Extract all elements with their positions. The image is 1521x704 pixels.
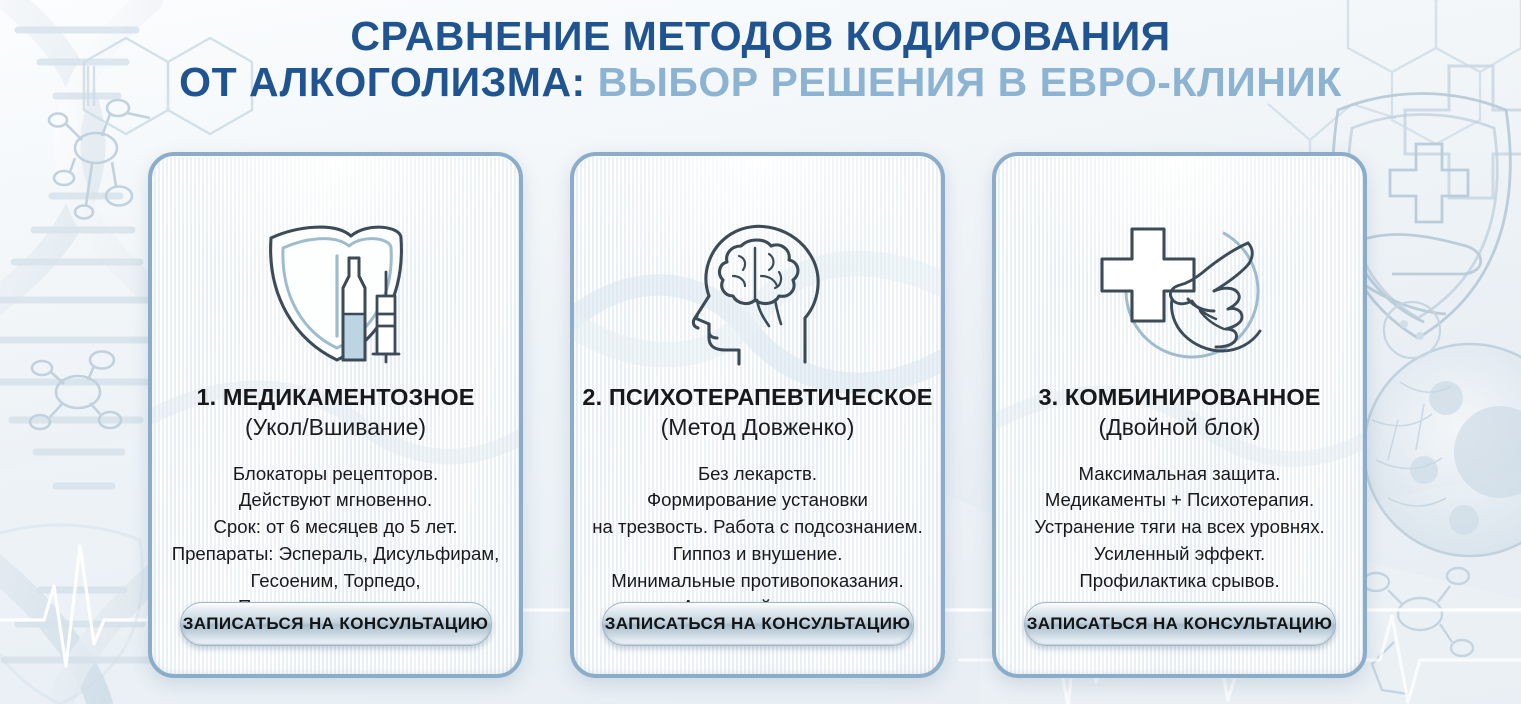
card-body-line: Профилактика срывов. [1004,568,1355,595]
card-body-line: Усиленный эффект. [1004,541,1355,568]
title-line-1: СРАВНЕНИЕ МЕТОДОВ КОДИРОВАНИЯ [0,14,1521,60]
card-body-line: Устранение тяги на всех уровнях. [1004,514,1355,541]
shield-ampoule-syringe-icon [251,214,421,366]
card-body-line: Гиппоз и внушение. [582,541,933,568]
title-line-2-dark: ОТ АЛКОГОЛИЗМА: [179,59,586,105]
consultation-button[interactable]: ЗАПИСАТЬСЯ НА КОНСУЛЬТАЦИЮ [602,602,914,646]
title-line-2-light: ВЫБОР РЕШЕНИЯ В ЕВРО-КЛИНИК [598,59,1342,105]
card-heading: 3. КОМБИНИРОВАННОЕ [1004,384,1355,412]
card-icon-container [152,204,519,376]
card-body-line: Препараты: Эспераль, Дисульфирам, [160,541,511,568]
method-card-psychotherapy[interactable]: 2. ПСИХОТЕРАПЕВТИЧЕСКОЕ (Метод Довженко)… [570,152,945,678]
cross-helping-hands-icon [1096,215,1264,365]
title-line-2: ОТ АЛКОГОЛИЗМА: ВЫБОР РЕШЕНИЯ В ЕВРО-КЛИ… [0,60,1521,106]
card-heading: 1. МЕДИКАМЕНТОЗНОЕ [160,384,511,412]
card-body-line: Максимальная защита. [1004,461,1355,488]
card-subheading: (Метод Довженко) [582,413,933,443]
card-text-block: 3. КОМБИНИРОВАННОЕ (Двойной блок) Максим… [996,384,1363,594]
card-body-line: Без лекарств. [582,461,933,488]
molecule-structure-icon [1354,568,1473,694]
card-body-line: Срок: от 6 месяцев до 5 лет. [160,514,511,541]
card-body: Максимальная защита. Медикаменты + Психо… [1004,461,1355,595]
card-heading: 2. ПСИХОТЕРАПЕВТИЧЕСКОЕ [582,384,933,412]
molecule-structure-icon [49,100,150,219]
card-subheading: (Двойной блок) [1004,413,1355,443]
cell-sphere-icon [1364,302,1521,556]
consultation-button-label: ЗАПИСАТЬСЯ НА КОНСУЛЬТАЦИЮ [1027,614,1333,634]
shield-outline-icon [0,525,142,704]
card-icon-container [996,204,1363,376]
card-body: Блокаторы рецепторов. Действуют мгновенн… [160,461,511,622]
card-text-block: 2. ПСИХОТЕРАПЕВТИЧЕСКОЕ (Метод Довженко)… [574,384,941,621]
card-body-line: Действуют мгновенно. [160,487,511,514]
consultation-button[interactable]: ЗАПИСАТЬСЯ НА КОНСУЛЬТАЦИЮ [180,602,492,646]
banner-title: СРАВНЕНИЕ МЕТОДОВ КОДИРОВАНИЯ ОТ АЛКОГОЛ… [0,14,1521,106]
molecule-structure-icon [30,352,121,430]
consultation-button[interactable]: ЗАПИСАТЬСЯ НА КОНСУЛЬТАЦИЮ [1024,602,1336,646]
card-text-block: 1. МЕДИКАМЕНТОЗНОЕ (Укол/Вшивание) Блока… [152,384,519,621]
infographic-banner: СРАВНЕНИЕ МЕТОДОВ КОДИРОВАНИЯ ОТ АЛКОГОЛ… [0,0,1521,704]
method-card-medication[interactable]: 1. МЕДИКАМЕНТОЗНОЕ (Укол/Вшивание) Блока… [148,152,523,678]
method-card-combined[interactable]: 3. КОМБИНИРОВАННОЕ (Двойной блок) Максим… [992,152,1367,678]
card-body-line: Блокаторы рецепторов. [160,461,511,488]
card-body-line: Медикаменты + Психотерапия. [1004,487,1355,514]
card-body-line: на трезвость. Работа с подсознанием. [582,514,933,541]
card-body-line: Формирование установки [582,487,933,514]
card-body-line: Минимальные противопоказания. [582,568,933,595]
card-icon-container [574,204,941,376]
consultation-button-label: ЗАПИСАТЬСЯ НА КОНСУЛЬТАЦИЮ [183,614,489,634]
card-subheading: (Укол/Вшивание) [160,413,511,443]
consultation-button-label: ЗАПИСАТЬСЯ НА КОНСУЛЬТАЦИЮ [605,614,911,634]
card-body-line: Гесоеним, Торпедо, [160,568,511,595]
card-body: Без лекарств. Формирование установки на … [582,461,933,622]
head-brain-icon [683,214,833,366]
